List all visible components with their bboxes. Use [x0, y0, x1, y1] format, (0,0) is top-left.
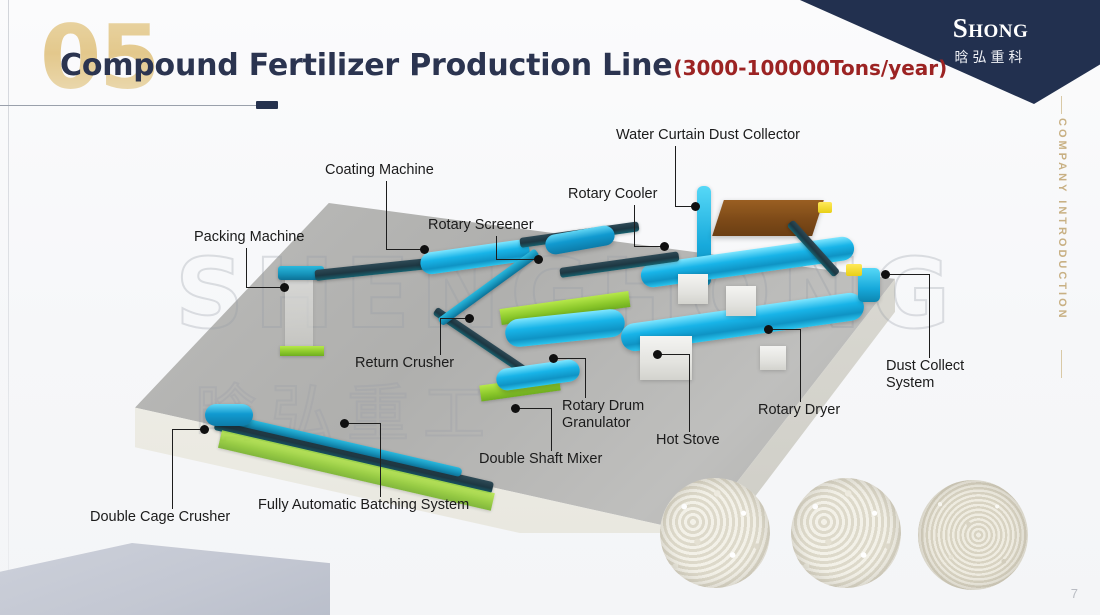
leader-rotary-drum-granulator-h	[557, 358, 585, 359]
title-block: Compound Fertilizer Production Line (300…	[60, 48, 947, 83]
packing-tower	[285, 273, 313, 351]
granule-sample-2-image	[791, 478, 901, 588]
page-number: 7	[1071, 586, 1078, 601]
leader-return-crusher	[440, 318, 441, 355]
label-water-curtain-dust-collector: Water Curtain Dust Collector	[616, 127, 800, 144]
label-return-crusher: Return Crusher	[355, 355, 454, 372]
hot-stove-building	[640, 336, 692, 380]
label-rotary-screener: Rotary Screener	[428, 217, 534, 234]
leader-rotary-dryer	[800, 329, 801, 402]
leader-hot-stove-h	[661, 354, 689, 355]
dot-dust-collect-system	[881, 270, 890, 279]
label-rotary-dryer: Rotary Dryer	[758, 402, 840, 419]
dot-return-crusher	[465, 314, 474, 323]
page-title: Compound Fertilizer Production Line	[60, 48, 672, 83]
dot-rotary-dryer	[764, 325, 773, 334]
leader-packing-machine	[246, 248, 247, 287]
brand-wordmark: ¨SHONG	[953, 14, 1029, 46]
cooler-valve-icon	[818, 202, 832, 213]
leader-double-shaft-mixer-h	[519, 408, 551, 409]
dot-fully-automatic-batching-system	[340, 419, 349, 428]
leader-coating-machine-h	[386, 249, 424, 250]
leader-batching-system-h	[348, 423, 380, 424]
title-divider	[0, 105, 256, 106]
support-building-1	[678, 274, 708, 304]
leader-water-curtain	[675, 146, 676, 206]
leader-rotary-cooler	[634, 205, 635, 246]
double-cage-crusher-unit	[205, 404, 253, 426]
label-coating-machine: Coating Machine	[325, 162, 434, 179]
hot-stove-unit	[712, 200, 824, 236]
leader-double-cage-crusher	[172, 429, 173, 509]
label-rotary-drum-granulator: Rotary Drum Granulator	[562, 398, 662, 432]
leader-packing-machine-h	[246, 287, 284, 288]
brand-dots-icon: ¨	[957, 10, 961, 38]
label-double-shaft-mixer: Double Shaft Mixer	[479, 451, 602, 468]
leader-rotary-screener	[496, 236, 497, 259]
dot-double-shaft-mixer	[511, 404, 520, 413]
dot-hot-stove	[653, 350, 662, 359]
label-hot-stove: Hot Stove	[656, 432, 720, 449]
product-sample-gallery	[660, 478, 1040, 598]
label-rotary-cooler: Rotary Cooler	[568, 186, 657, 203]
leader-batching-system	[380, 423, 381, 497]
granule-sample-3-image	[918, 480, 1028, 590]
leader-dust-collect-system	[929, 274, 930, 358]
dot-rotary-cooler	[660, 242, 669, 251]
leader-rotary-screener-h	[496, 259, 538, 260]
label-double-cage-crusher: Double Cage Crusher	[90, 509, 230, 526]
leader-double-shaft-mixer	[551, 408, 552, 451]
dust-collect-valve-icon	[846, 264, 862, 276]
title-divider-accent	[256, 101, 278, 109]
slide-root: ¨SHONG 晗弘重科 05 Compound Fertilizer Produ…	[0, 0, 1100, 615]
leader-hot-stove	[689, 354, 690, 432]
leader-dust-collect-system-h	[889, 274, 929, 275]
dot-rotary-screener	[534, 255, 543, 264]
page-subtitle: (3000-100000Tons/year)	[673, 56, 947, 80]
support-building-3	[760, 346, 786, 370]
side-dash-top	[1061, 96, 1062, 114]
leader-rotary-dryer-h	[772, 329, 800, 330]
granule-sample-1-image	[660, 478, 770, 588]
dot-coating-machine	[420, 245, 429, 254]
label-fully-automatic-batching-system: Fully Automatic Batching System	[258, 497, 469, 514]
leader-rotary-drum-granulator	[585, 358, 586, 398]
brand-name-rest: HONG	[968, 21, 1028, 42]
dot-water-curtain-dust-collector	[691, 202, 700, 211]
support-building-2	[726, 286, 756, 316]
dot-rotary-drum-granulator	[549, 354, 558, 363]
packing-base	[280, 346, 324, 356]
label-dust-collect-system: Dust Collect System	[886, 358, 984, 392]
dot-double-cage-crusher	[200, 425, 209, 434]
label-packing-machine: Packing Machine	[194, 229, 304, 246]
dot-packing-machine	[280, 283, 289, 292]
leader-coating-machine	[386, 181, 387, 249]
